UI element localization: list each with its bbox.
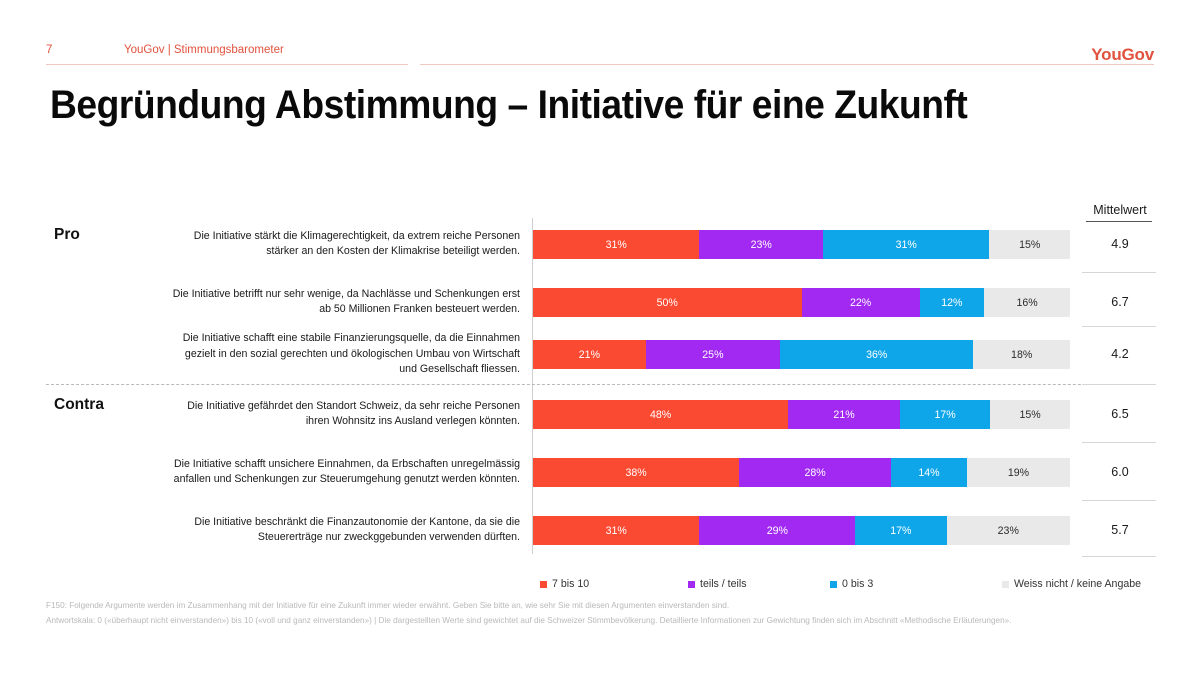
row-label: Die Initiative schafft eine stabile Fina… <box>100 331 520 377</box>
row-label: Die Initiative schafft unsichere Einnahm… <box>100 457 520 488</box>
bar-segment[interactable]: 23% <box>947 516 1071 545</box>
mittelwert-value: 6.0 <box>1078 465 1162 479</box>
mittelwert-separator <box>1082 326 1156 327</box>
bar-segment[interactable]: 31% <box>533 516 699 545</box>
mittelwert-separator <box>1082 384 1156 385</box>
stacked-bar[interactable]: 50%22%12%16% <box>533 288 1070 317</box>
legend-swatch-icon <box>688 581 695 588</box>
legend-item[interactable]: 7 bis 10 <box>540 578 589 590</box>
bar-segment[interactable]: 22% <box>802 288 920 317</box>
mittelwert-value: 4.2 <box>1078 347 1162 361</box>
mittelwert-header: Mittelwert <box>1078 203 1162 219</box>
bar-segment[interactable]: 18% <box>973 340 1070 369</box>
legend-swatch-icon <box>830 581 837 588</box>
mittelwert-value: 4.9 <box>1078 237 1162 251</box>
stacked-bar[interactable]: 31%23%31%15% <box>533 230 1070 259</box>
row-label-text: Die Initiative schafft eine stabile Fina… <box>100 331 520 377</box>
footnote-line: Antwortskala: 0 («überhaupt nicht einver… <box>46 613 1161 628</box>
stacked-bar-chart: Mittelwert Pro Contra Die Initiative stä… <box>0 0 1200 674</box>
row-label: Die Initiative gefährdet den Standort Sc… <box>100 399 520 430</box>
bar-segment[interactable]: 29% <box>699 516 855 545</box>
chart-axis-line <box>532 218 533 554</box>
legend-item[interactable]: Weiss nicht / keine Angabe <box>1002 578 1141 590</box>
footnote: F150: Folgende Argumente werden im Zusam… <box>46 598 1161 628</box>
bar-segment[interactable]: 50% <box>533 288 802 317</box>
legend-label: 7 bis 10 <box>552 578 589 590</box>
slide: 7 YouGov | Stimmungsbarometer YouGov Beg… <box>0 0 1200 674</box>
mittelwert-value: 6.5 <box>1078 407 1162 421</box>
row-label-text: Die Initiative schafft unsichere Einnahm… <box>100 457 520 488</box>
bar-segment[interactable]: 31% <box>533 230 699 259</box>
bar-segment[interactable]: 21% <box>533 340 646 369</box>
mittelwert-separator <box>1082 272 1156 273</box>
row-label: Die Initiative beschränkt die Finanzauto… <box>100 515 520 546</box>
mittelwert-separator <box>1082 500 1156 501</box>
mittelwert-value: 5.7 <box>1078 523 1162 537</box>
mittelwert-separator <box>1082 442 1156 443</box>
row-label-text: Die Initiative betrifft nur sehr wenige,… <box>100 287 520 318</box>
legend-item[interactable]: 0 bis 3 <box>830 578 873 590</box>
bar-segment[interactable]: 36% <box>780 340 973 369</box>
bar-segment[interactable]: 15% <box>990 400 1070 429</box>
group-label-contra: Contra <box>54 396 104 414</box>
mittelwert-value: 6.7 <box>1078 295 1162 309</box>
bar-segment[interactable]: 17% <box>855 516 946 545</box>
row-label: Die Initiative stärkt die Klimagerechtig… <box>100 229 520 260</box>
bar-segment[interactable]: 31% <box>823 230 989 259</box>
bar-segment[interactable]: 23% <box>699 230 823 259</box>
legend-label: 0 bis 3 <box>842 578 873 590</box>
row-label-text: Die Initiative beschränkt die Finanzauto… <box>100 515 520 546</box>
row-label-text: Die Initiative stärkt die Klimagerechtig… <box>100 229 520 260</box>
stacked-bar[interactable]: 38%28%14%19% <box>533 458 1070 487</box>
bar-segment[interactable]: 25% <box>646 340 780 369</box>
legend-label: Weiss nicht / keine Angabe <box>1014 578 1141 590</box>
bar-segment[interactable]: 48% <box>533 400 788 429</box>
legend-swatch-icon <box>1002 581 1009 588</box>
bar-segment[interactable]: 28% <box>739 458 891 487</box>
bar-segment[interactable]: 19% <box>967 458 1070 487</box>
row-label-text: Die Initiative gefährdet den Standort Sc… <box>100 399 520 430</box>
legend-swatch-icon <box>540 581 547 588</box>
bar-segment[interactable]: 21% <box>788 400 900 429</box>
stacked-bar[interactable]: 21%25%36%18% <box>533 340 1070 369</box>
pro-contra-divider <box>46 384 1156 385</box>
bar-segment[interactable]: 15% <box>989 230 1070 259</box>
bar-segment[interactable]: 12% <box>920 288 984 317</box>
footnote-line: F150: Folgende Argumente werden im Zusam… <box>46 598 1161 613</box>
bar-segment[interactable]: 17% <box>900 400 990 429</box>
legend-item[interactable]: teils / teils <box>688 578 747 590</box>
mittelwert-header-underline <box>1086 221 1152 222</box>
mittelwert-separator <box>1082 556 1156 557</box>
row-label: Die Initiative betrifft nur sehr wenige,… <box>100 287 520 318</box>
legend-label: teils / teils <box>700 578 747 590</box>
group-label-pro: Pro <box>54 226 80 244</box>
stacked-bar[interactable]: 48%21%17%15% <box>533 400 1070 429</box>
bar-segment[interactable]: 14% <box>891 458 967 487</box>
stacked-bar[interactable]: 31%29%17%23% <box>533 516 1070 545</box>
chart-legend: 7 bis 10teils / teils0 bis 3Weiss nicht … <box>540 578 1160 594</box>
bar-segment[interactable]: 38% <box>533 458 739 487</box>
bar-segment[interactable]: 16% <box>984 288 1070 317</box>
